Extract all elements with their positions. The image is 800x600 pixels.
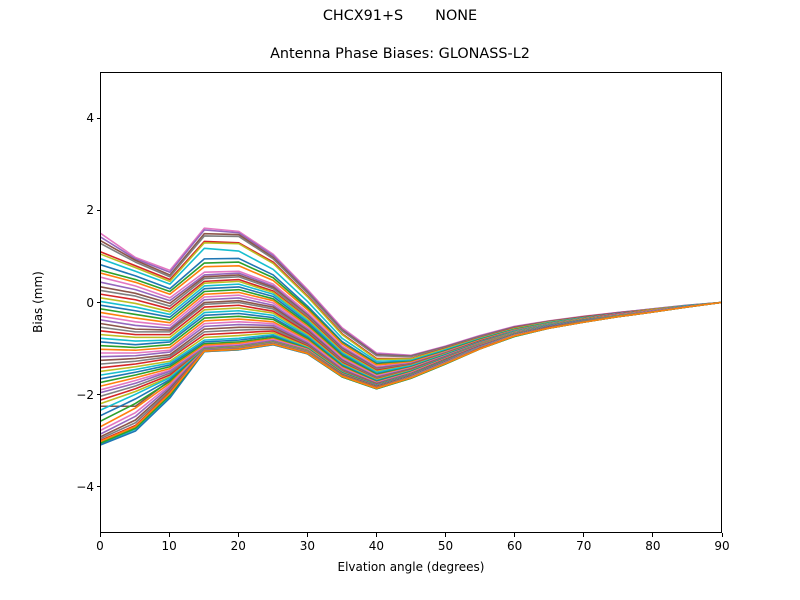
- x-tick-label: 60: [495, 539, 535, 553]
- x-tick-label: 70: [564, 539, 604, 553]
- x-tick-mark: [722, 533, 723, 537]
- x-tick-mark: [376, 533, 377, 537]
- y-tick-label: 2: [60, 203, 94, 217]
- x-tick-mark: [445, 533, 446, 537]
- x-tick-mark: [238, 533, 239, 537]
- x-tick-mark: [307, 533, 308, 537]
- figure-canvas: CHCX91+S NONE Antenna Phase Biases: GLON…: [0, 0, 800, 600]
- y-axis-label: Bias (mm): [31, 271, 45, 333]
- x-tick-label: 90: [702, 539, 742, 553]
- x-tick-label: 10: [149, 539, 189, 553]
- x-tick-mark: [652, 533, 653, 537]
- axes-title: Antenna Phase Biases: GLONASS-L2: [0, 46, 800, 62]
- y-tick-label: −2: [60, 388, 94, 402]
- x-tick-label: 20: [218, 539, 258, 553]
- x-tick-label: 50: [426, 539, 466, 553]
- x-tick-mark: [100, 533, 101, 537]
- x-tick-label: 80: [633, 539, 673, 553]
- figure-suptitle: CHCX91+S NONE: [0, 8, 800, 24]
- x-tick-label: 40: [356, 539, 396, 553]
- x-axis-label: Elvation angle (degrees): [100, 560, 722, 574]
- y-tick-label: 0: [60, 296, 94, 310]
- y-tick-label: 4: [60, 111, 94, 125]
- x-tick-mark: [514, 533, 515, 537]
- x-tick-mark: [169, 533, 170, 537]
- x-tick-mark: [583, 533, 584, 537]
- line-series-group: [101, 73, 721, 532]
- y-tick-label: −4: [60, 480, 94, 494]
- x-tick-label: 0: [80, 539, 120, 553]
- plot-area: [100, 72, 722, 533]
- x-tick-label: 30: [287, 539, 327, 553]
